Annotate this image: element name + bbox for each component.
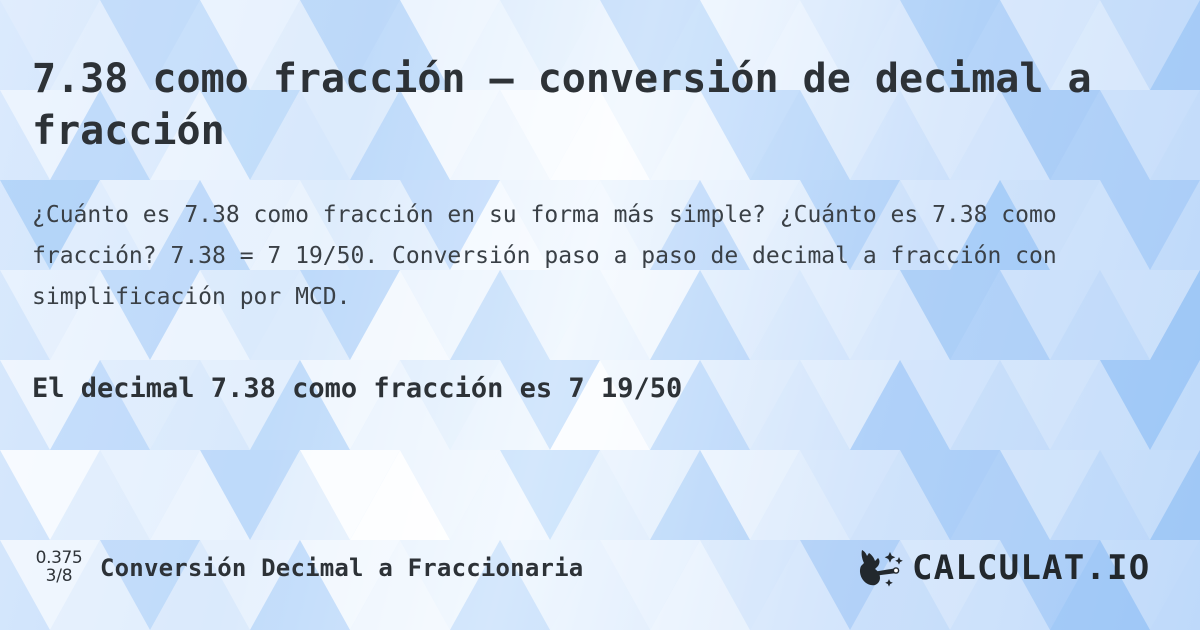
footer-section-title: Conversión Decimal a Fraccionaria: [100, 554, 583, 582]
page-title: 7.38 como fracción – conversión de decim…: [32, 53, 1092, 157]
logo-fraction-value: 3/8: [26, 568, 92, 586]
decimal-fraction-logo: 0.375 3/8: [26, 550, 92, 586]
brand-logo[interactable]: CALCULAT.IO: [856, 544, 1182, 596]
page-description: ¿Cuánto es 7.38 como fracción en su form…: [32, 195, 1122, 318]
brand-wordmark: CALCULAT.IO: [912, 548, 1182, 592]
hand-magic-wand-icon: [856, 544, 908, 596]
card-content: 7.38 como fracción – conversión de decim…: [0, 0, 1200, 630]
og-share-card: 7.38 como fracción – conversión de decim…: [0, 0, 1200, 630]
answer-statement: El decimal 7.38 como fracción es 7 19/50: [32, 370, 1132, 408]
brand-name-text: CALCULAT.IO: [912, 548, 1150, 588]
footer: 0.375 3/8 Conversión Decimal a Fracciona…: [0, 548, 1200, 600]
